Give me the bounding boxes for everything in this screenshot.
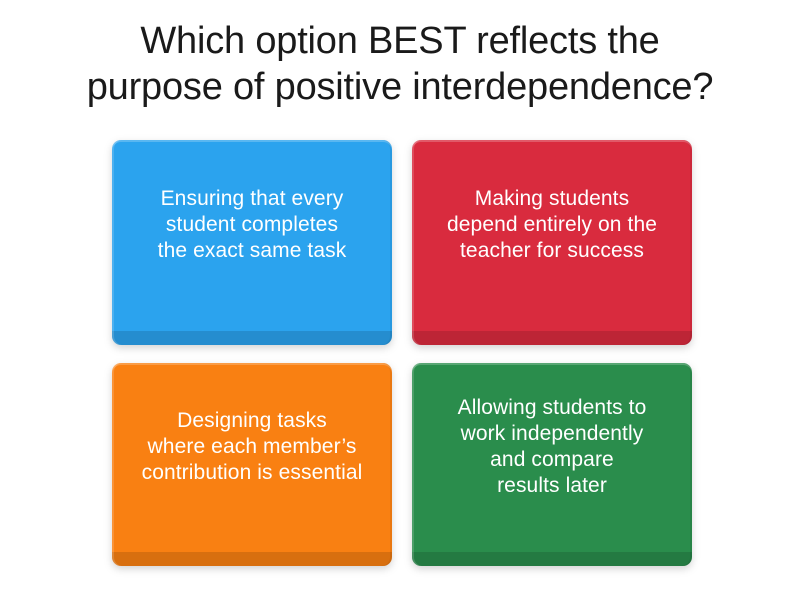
question-title: Which option BEST reflects the purpose o… [0,18,800,110]
answer-options-grid: Ensuring that every student completes th… [112,140,692,566]
answer-option-b[interactable]: Making students depend entirely on the t… [412,140,692,345]
answer-option-d-label: Allowing students to work independently … [412,395,692,499]
quiz-slide: Which option BEST reflects the purpose o… [0,0,800,600]
answer-option-c-label: Designing tasks where each member’s cont… [112,408,392,486]
answer-option-c[interactable]: Designing tasks where each member’s cont… [112,363,392,566]
answer-option-b-label: Making students depend entirely on the t… [412,186,692,264]
answer-option-a[interactable]: Ensuring that every student completes th… [112,140,392,345]
answer-option-a-label: Ensuring that every student completes th… [112,186,392,264]
question-area: Which option BEST reflects the purpose o… [0,18,800,110]
answer-option-d[interactable]: Allowing students to work independently … [412,363,692,566]
